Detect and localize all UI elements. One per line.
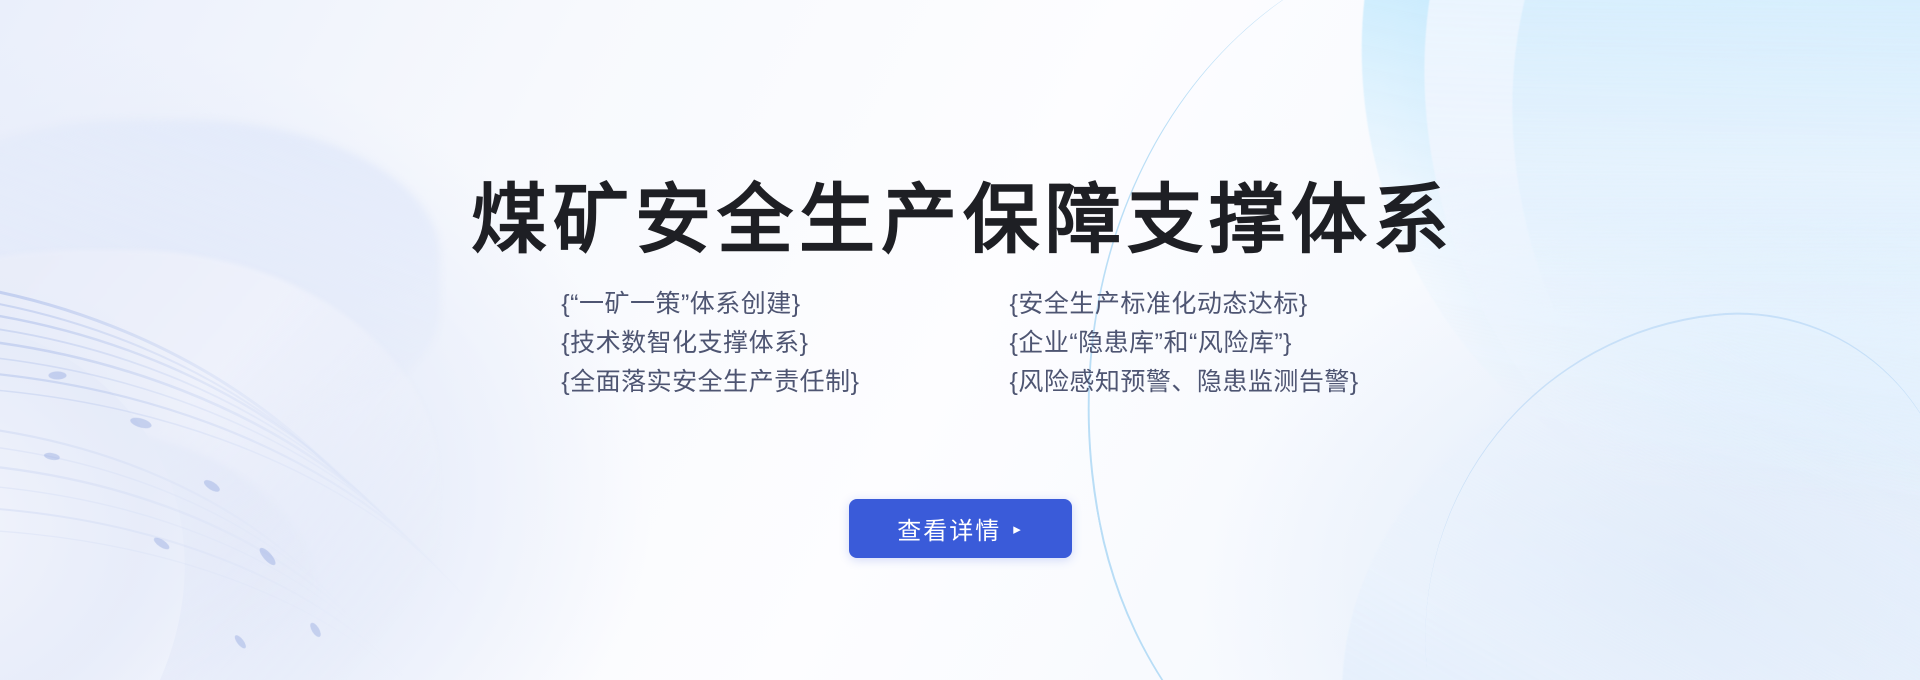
- feature-item: {企业“隐患库”和“风险库”}: [1010, 331, 1293, 356]
- feature-item: {技术数智化支撑体系}: [561, 331, 808, 356]
- page-title: 煤矿安全生产保障支撑体系: [0, 183, 1920, 259]
- view-details-button[interactable]: 查看详情 ▸: [849, 499, 1072, 558]
- feature-column-left: {“一矿一策”体系创建} {技术数智化支撑体系} {全面落实安全生产责任制}: [561, 292, 859, 395]
- feature-item: {全面落实安全生产责任制}: [561, 370, 859, 395]
- feature-item: {安全生产标准化动态达标}: [1010, 292, 1308, 317]
- feature-list: {“一矿一策”体系创建} {技术数智化支撑体系} {全面落实安全生产责任制} {…: [0, 292, 1920, 395]
- feature-item: {“一矿一策”体系创建}: [561, 292, 800, 317]
- hero-banner: 煤矿安全生产保障支撑体系 {“一矿一策”体系创建} {技术数智化支撑体系} {全…: [0, 0, 1920, 680]
- cta-container: 查看详情 ▸: [0, 499, 1920, 558]
- feature-item: {风险感知预警、隐患监测告警}: [1010, 370, 1359, 395]
- feature-column-right: {安全生产标准化动态达标} {企业“隐患库”和“风险库”} {风险感知预警、隐患…: [1010, 292, 1359, 395]
- view-details-label: 查看详情: [897, 511, 1001, 546]
- arrow-right-icon: ▸: [1013, 522, 1023, 537]
- banner-content: 煤矿安全生产保障支撑体系 {“一矿一策”体系创建} {技术数智化支撑体系} {全…: [0, 0, 1920, 680]
